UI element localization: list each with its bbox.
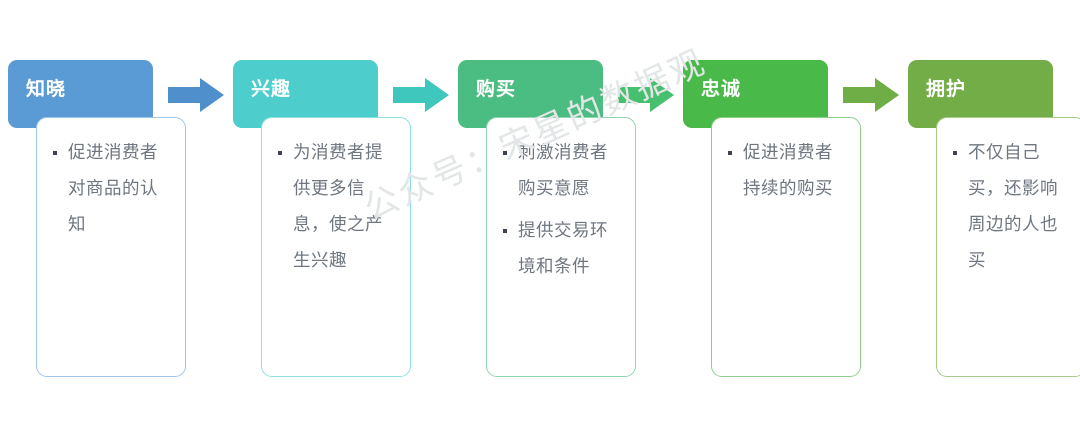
arrow-loyalty-advocacy-icon [843, 78, 899, 112]
arrow-interest-purchase-icon [393, 78, 449, 112]
bullet-list-loyalty: 促进消费者持续的购买 [712, 118, 860, 207]
arrow-purchase-loyalty-icon [618, 78, 674, 112]
list-item: 促进消费者对商品的认知 [49, 135, 175, 243]
bullet-list-interest: 为消费者提供更多信息，使之产生兴趣 [262, 118, 410, 279]
list-item: 不仅自己买，还影响周边的人也买 [949, 135, 1075, 279]
bullet-list-awareness: 促进消费者对商品的认知 [37, 118, 185, 243]
arrow-awareness-interest-icon [168, 78, 224, 112]
list-item: 为消费者提供更多信息，使之产生兴趣 [274, 135, 400, 279]
stage-card-loyalty: 促进消费者持续的购买 [711, 117, 861, 377]
bullet-list-advocacy: 不仅自己买，还影响周边的人也买 [937, 118, 1080, 279]
stage-card-awareness: 促进消费者对商品的认知 [36, 117, 186, 377]
stage-card-advocacy: 不仅自己买，还影响周边的人也买 [936, 117, 1080, 377]
stage-title-advocacy: 拥护 [926, 80, 966, 99]
stage-title-loyalty: 忠诚 [701, 80, 741, 99]
bullet-list-purchase: 刺激消费者购买意愿提供交易环境和条件 [487, 118, 635, 285]
stage-card-interest: 为消费者提供更多信息，使之产生兴趣 [261, 117, 411, 377]
stage-title-interest: 兴趣 [251, 80, 291, 99]
list-item: 提供交易环境和条件 [499, 213, 625, 285]
stage-title-awareness: 知晓 [26, 80, 66, 99]
stage-title-purchase: 购买 [476, 80, 516, 99]
list-item: 刺激消费者购买意愿 [499, 135, 625, 207]
list-item: 促进消费者持续的购买 [724, 135, 850, 207]
process-flow-diagram: 知晓促进消费者对商品的认知兴趣为消费者提供更多信息，使之产生兴趣购买刺激消费者购… [0, 0, 1080, 443]
stage-card-purchase: 刺激消费者购买意愿提供交易环境和条件 [486, 117, 636, 377]
